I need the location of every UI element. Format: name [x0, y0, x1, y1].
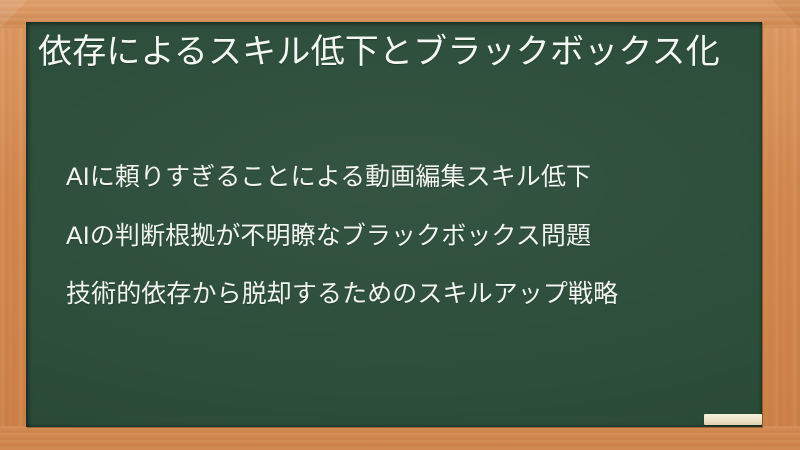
list-item: 技術的依存から脱却するためのスキルアップ戦略 — [66, 279, 756, 310]
page-title: 依存によるスキル低下とブラックボックス化 — [38, 30, 750, 74]
list-item: AIに頼りすぎることによる動画編集スキル低下 — [66, 162, 756, 193]
bullet-list: AIに頼りすぎることによる動画編集スキル低下 AIの判断根拠が不明瞭なブラックボ… — [66, 162, 756, 310]
chalk-eraser-icon — [704, 414, 762, 425]
frame-corner-top-right — [772, 0, 800, 28]
list-item: AIの判断根拠が不明瞭なブラックボックス問題 — [66, 221, 756, 252]
wood-frame-bottom-rail — [0, 426, 800, 450]
chalkboard-surface: 依存によるスキル低下とブラックボックス化 AIに頼りすぎることによる動画編集スキ… — [26, 22, 762, 427]
frame-corner-top-left — [0, 0, 28, 28]
chalkboard-slide: 依存によるスキル低下とブラックボックス化 AIに頼りすぎることによる動画編集スキ… — [0, 0, 800, 450]
